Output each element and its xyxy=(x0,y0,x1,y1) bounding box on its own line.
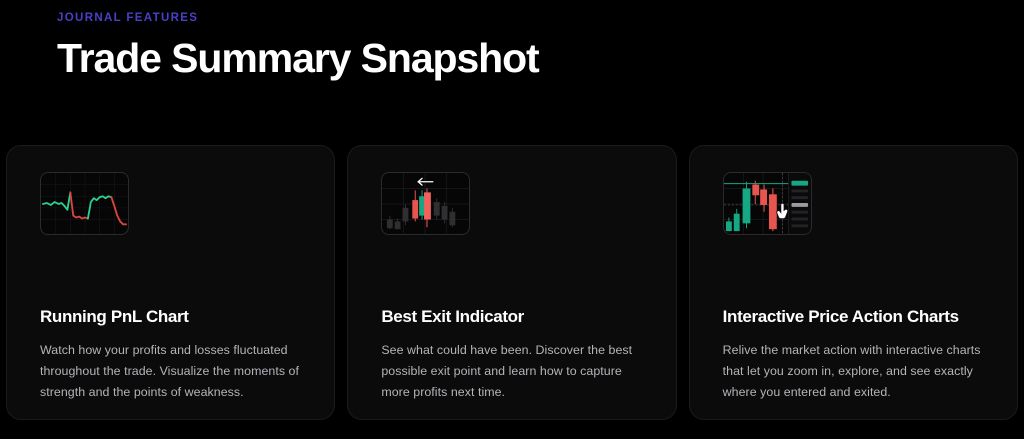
best-exit-candlestick-arrow-icon xyxy=(381,172,470,235)
feature-card-running-pnl[interactable]: Running PnL Chart Watch how your profits… xyxy=(6,145,335,420)
section-eyebrow: JOURNAL FEATURES xyxy=(57,10,539,26)
feature-card-grid: Running PnL Chart Watch how your profits… xyxy=(0,145,1024,420)
feature-card-interactive-charts[interactable]: Interactive Price Action Charts Relive t… xyxy=(689,145,1018,420)
feature-card-best-exit[interactable]: Best Exit Indicator See what could have … xyxy=(347,145,676,420)
page-title: Trade Summary Snapshot xyxy=(57,34,539,83)
card-title: Interactive Price Action Charts xyxy=(723,306,959,328)
section-header: JOURNAL FEATURES Trade Summary Snapshot xyxy=(57,10,539,83)
card-description: Watch how your profits and losses fluctu… xyxy=(40,340,302,403)
running-pnl-line-chart-icon xyxy=(40,172,129,235)
card-title: Running PnL Chart xyxy=(40,306,189,328)
features-section: JOURNAL FEATURES Trade Summary Snapshot xyxy=(0,0,1024,439)
interactive-price-action-chart-icon xyxy=(723,172,812,235)
card-description: Relive the market action with interactiv… xyxy=(723,340,985,403)
cursor-hand-icon xyxy=(776,203,787,218)
card-description: See what could have been. Discover the b… xyxy=(381,340,643,403)
card-title: Best Exit Indicator xyxy=(381,306,524,328)
